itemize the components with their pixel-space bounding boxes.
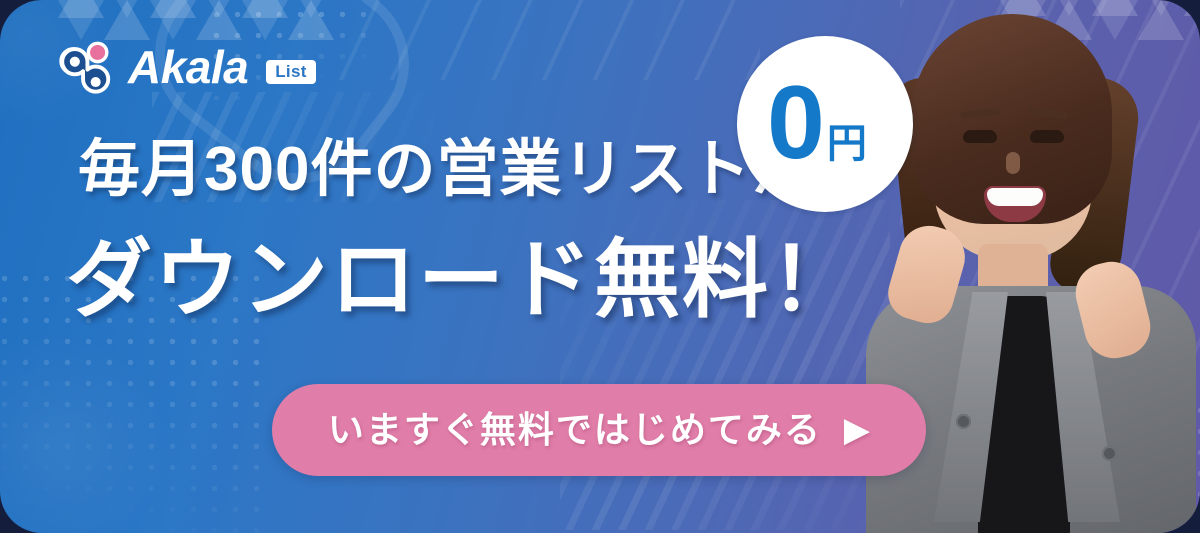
- blob-bottom-left: [0, 330, 170, 533]
- promo-banner: Akala List 毎月300件の営業リストが ダウンロード無料！ 0 円 い…: [0, 0, 1200, 533]
- price-currency: 円: [827, 124, 867, 164]
- eye-left: [963, 130, 997, 143]
- akala-logo[interactable]: Akala List: [54, 36, 316, 98]
- blazer-button-right: [1102, 446, 1117, 461]
- triangle-pattern-left: [58, 0, 334, 40]
- diagonal-stripes-top-right: [330, 0, 760, 80]
- logo-list-badge: List: [266, 60, 315, 84]
- headline-line-2: ダウンロード無料！: [66, 237, 858, 323]
- start-free-cta-button[interactable]: いますぐ無料ではじめてみる ▶: [272, 384, 926, 476]
- blazer-button-left: [956, 414, 971, 429]
- play-arrow-icon: ▶: [844, 413, 870, 447]
- price-bubble: 0 円: [737, 36, 913, 212]
- eye-right: [1030, 130, 1064, 143]
- headline-line-1: 毎月300件の営業リストが: [78, 139, 814, 201]
- banner-card: Akala List 毎月300件の営業リストが ダウンロード無料！ 0 円 い…: [0, 0, 1200, 533]
- triangle-pattern-left-row2: [58, 0, 334, 18]
- teeth: [987, 188, 1043, 206]
- logo-wordmark: Akala: [128, 44, 248, 90]
- cta-label: いますぐ無料ではじめてみる: [328, 412, 822, 448]
- nose: [1006, 152, 1020, 174]
- akala-infinity-mark-icon: [54, 36, 116, 98]
- price-amount: 0: [767, 78, 825, 170]
- price-bubble-content: 0 円: [767, 78, 867, 170]
